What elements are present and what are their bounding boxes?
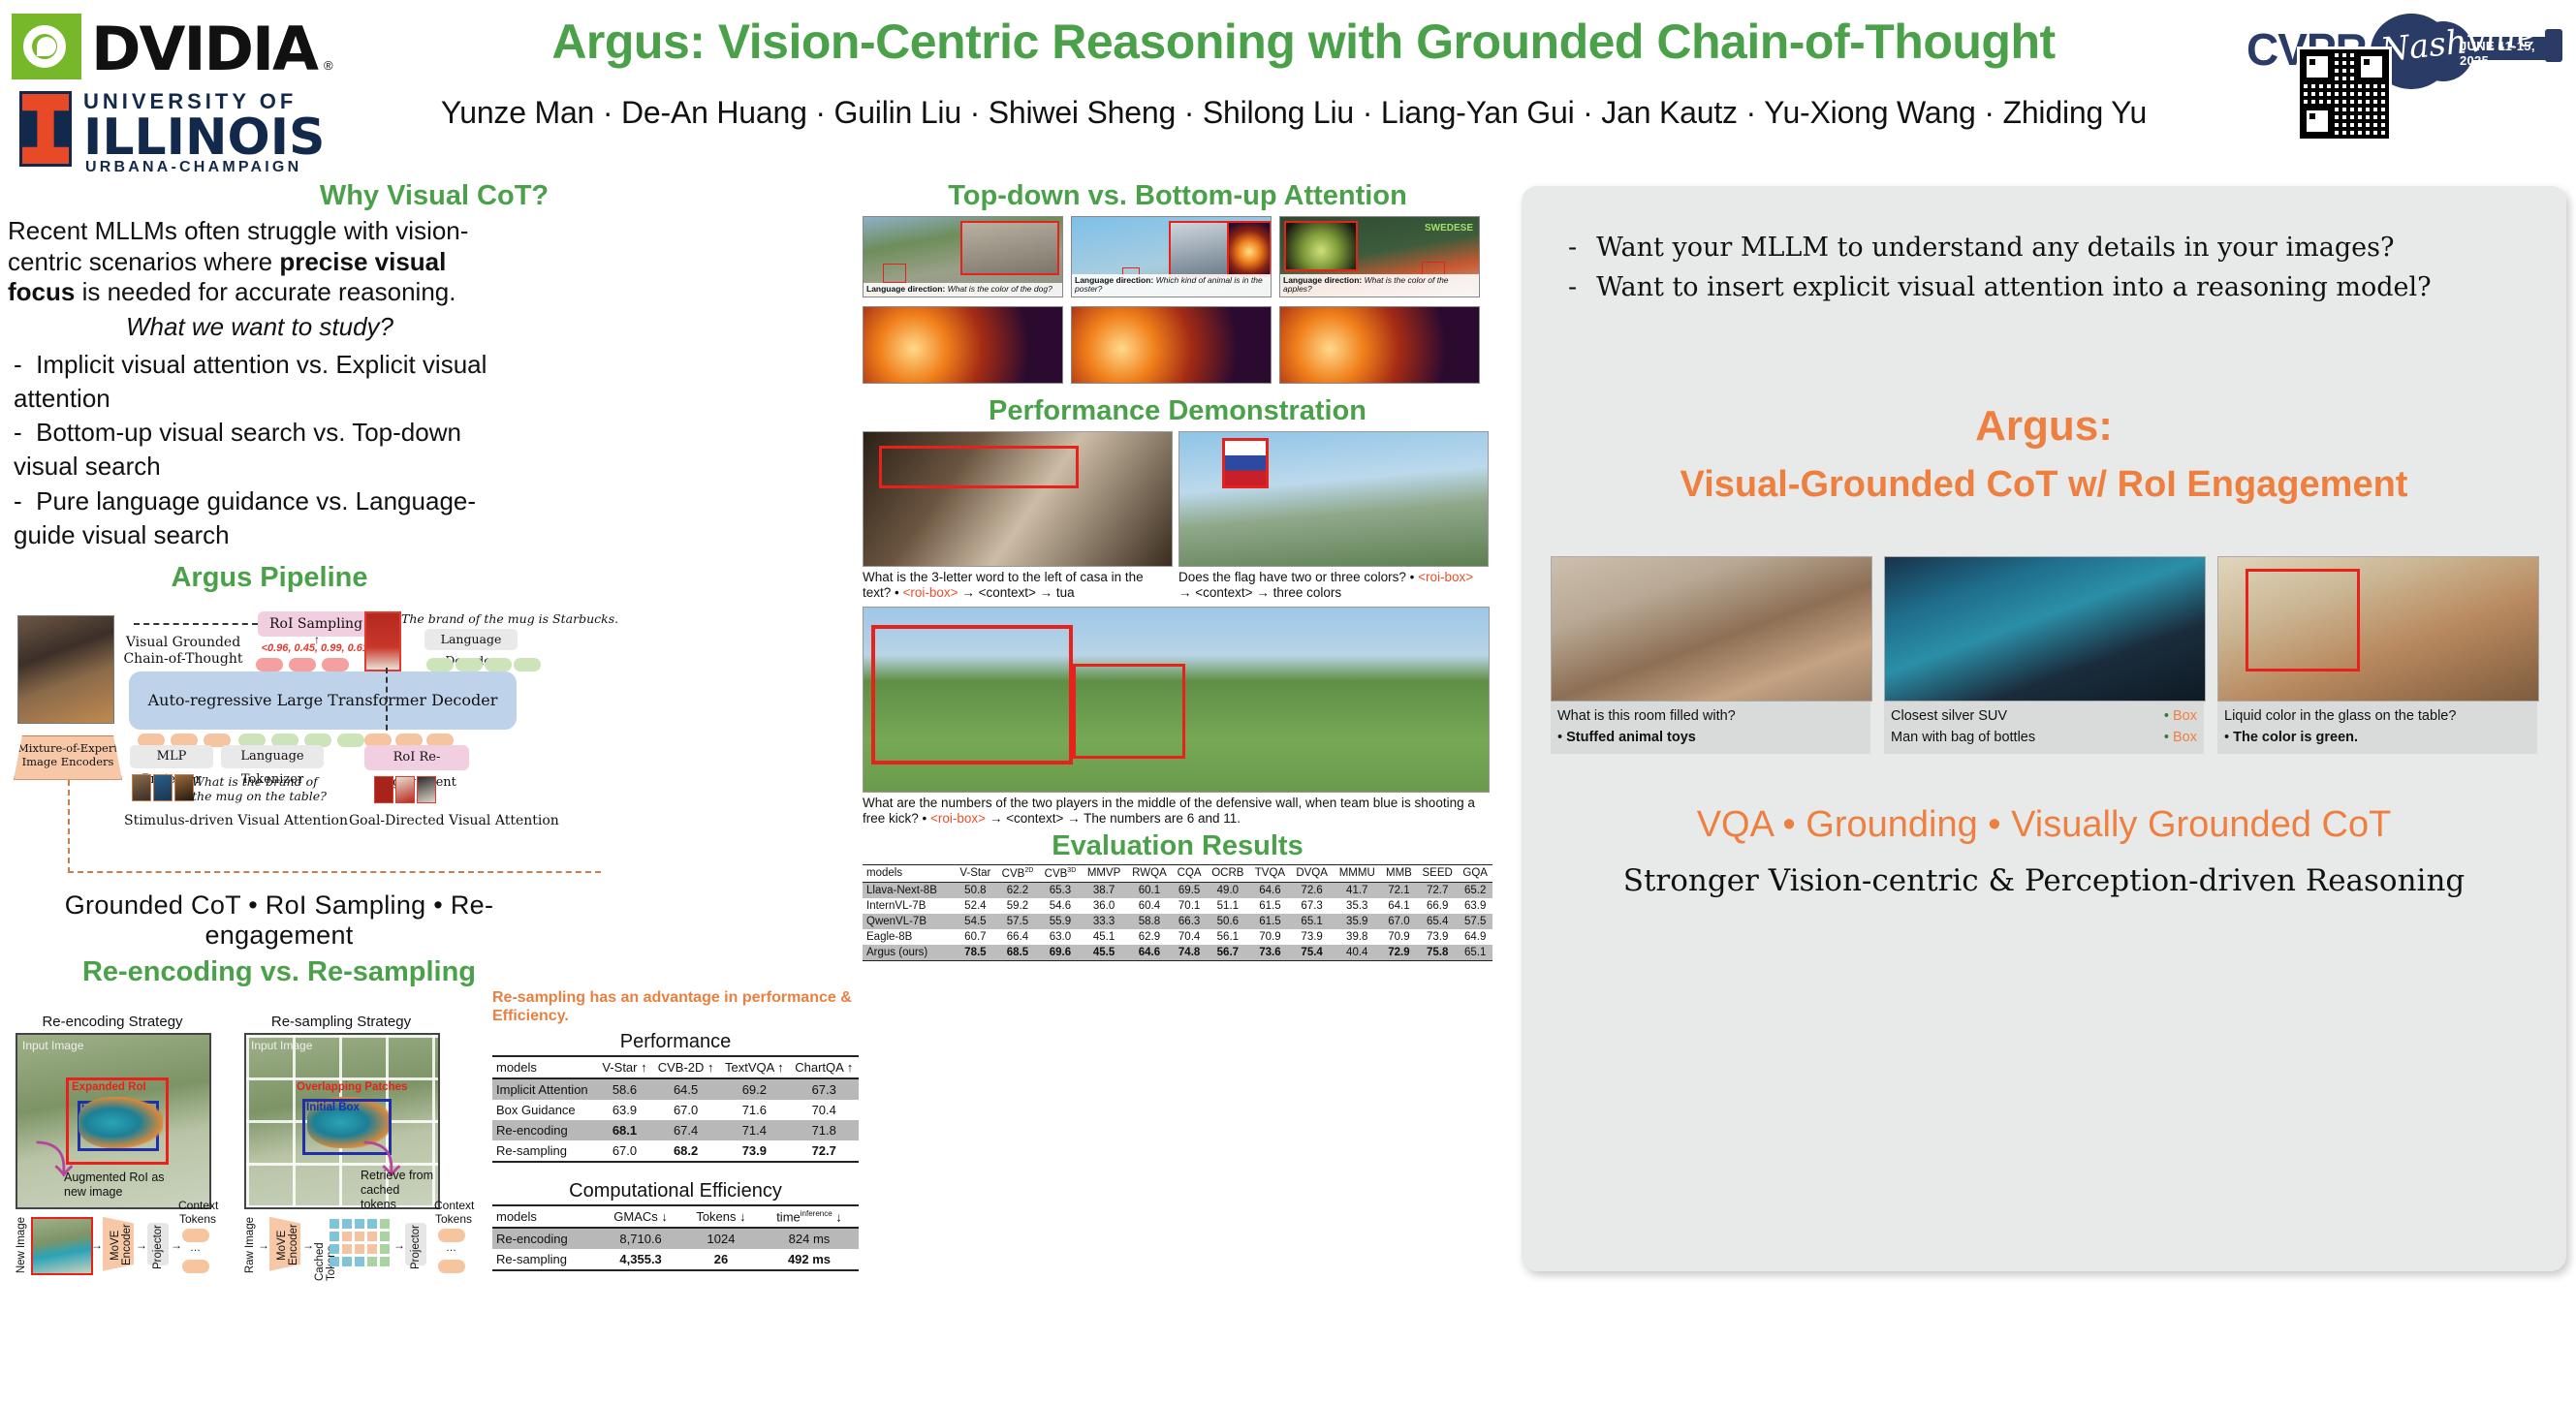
ellipsis-right: … xyxy=(446,1242,456,1254)
transformer-decoder-box: Auto-regressive Large Transformer Decode… xyxy=(129,671,517,730)
th-eff-models: models xyxy=(492,1205,599,1228)
language-tokenizer-box: Language Tokenizer xyxy=(221,745,324,768)
nvidia-registered-icon: ® xyxy=(324,58,333,73)
projector-right: Projector xyxy=(405,1223,426,1265)
illinois-logo: UNIVERSITY OF ILLINOIS URBANA-CHAMPAIGN xyxy=(12,89,341,171)
argus-pipeline-diagram: Mixture-of-Expert Image Encoders Visual … xyxy=(8,598,861,889)
performance-demo-item-1: Does the flag have two or three colors? … xyxy=(1178,431,1487,601)
demo-caption-street: Closest silver SUV • Box Man with bag of… xyxy=(1884,702,2204,754)
right-question-list: - Want your MLLM to understand any detai… xyxy=(1568,229,2566,307)
cap-line-a0: • Stuffed animal toys xyxy=(1557,728,1864,749)
efficiency-table: models GMACs ↓ Tokens ↓ timeinference ↓ … xyxy=(492,1204,859,1271)
move-encoder-left: MoVE Encoder xyxy=(103,1217,134,1271)
efficiency-table-caption: Computational Efficiency xyxy=(492,1180,859,1202)
th-ev-gqa: GQA xyxy=(1458,864,1492,882)
cached-token-grid xyxy=(330,1219,390,1266)
resampling-note: Re-sampling has an advantage in performa… xyxy=(492,988,859,1025)
resampling-strategy-heading: Re-sampling Strategy xyxy=(244,1014,438,1030)
demo-image-soccer xyxy=(863,607,1490,793)
middle-column: Top-down vs. Bottom-up Attention Languag… xyxy=(863,180,1492,1279)
argus-headline-1: Argus: xyxy=(1522,402,2566,451)
th-ev-mmvp: MMVP xyxy=(1082,864,1126,882)
arrow-icon-5: → xyxy=(302,1238,314,1252)
input-image-label-right: Input Image xyxy=(251,1039,312,1052)
th-ev-tvqa: TVQA xyxy=(1249,864,1290,882)
pipeline-roi-thumbnails xyxy=(374,776,436,803)
table-row: Re-sampling 67.0 68.2 73.9 72.7 xyxy=(492,1140,859,1162)
demo-image-flag xyxy=(1178,431,1489,567)
argus-headline-2: Visual-Grounded CoT w/ RoI Engagement xyxy=(1522,464,2566,506)
pipeline-mug-crop xyxy=(364,611,401,671)
table-row: QwenVL-7B54.557.5 55.933.358.8 66.350.66… xyxy=(863,914,1492,929)
pipeline-dash-top xyxy=(134,623,258,625)
nvidia-eye-icon xyxy=(12,14,81,79)
demo-caption-room: What is this room filled with? • Stuffed… xyxy=(1551,702,1870,754)
poster-root: DVIDIA ® UNIVERSITY OF ILLINOIS URBANA-C… xyxy=(0,0,2576,1279)
expanded-roi-label: Expanded RoI xyxy=(72,1081,146,1093)
arrow-icon-1: → xyxy=(91,1238,103,1252)
context-tokens-right: Context Tokens xyxy=(434,1200,473,1227)
demo-caption-glass: Liquid color in the glass on the table? … xyxy=(2217,702,2537,754)
th-ev-cqa: CQA xyxy=(1173,864,1207,882)
th-cvb2d: CVB-2D ↑ xyxy=(652,1056,719,1078)
th-ev-cvb3d: CVB3D xyxy=(1039,864,1082,882)
why-study-question: What we want to study? xyxy=(8,312,512,342)
table-row: Re-encoding 8,710.6 1024 824 ms xyxy=(492,1228,859,1249)
projector-left: Projector xyxy=(147,1223,169,1265)
heatmap-2 xyxy=(1279,306,1480,384)
nvidia-wordmark: DVIDIA xyxy=(91,14,317,84)
author-list: Yunze Man · De-An Huang · Guilin Liu · S… xyxy=(368,95,2219,131)
why-para-b: is needed for accurate reasoning. xyxy=(75,277,456,306)
demo-caption-wide: What are the numbers of the two players … xyxy=(863,796,1492,827)
pipeline-input-photo xyxy=(17,615,114,724)
reencoding-crop-thumb xyxy=(31,1217,93,1275)
th-ev-dvqa: DVQA xyxy=(1291,864,1334,882)
resampling-input-image: Input Image Overlapping Patches Initial … xyxy=(244,1033,440,1209)
section-title-topdown-bottomup: Top-down vs. Bottom-up Attention xyxy=(863,180,1492,212)
pipeline-user-question: What is the brand of the mug on the tabl… xyxy=(192,774,337,804)
attention-card-2: SWEDESE Language direction: What is the … xyxy=(1279,216,1480,297)
move-encoder-right: MoVE Encoder xyxy=(269,1217,300,1271)
qr-code[interactable] xyxy=(2297,47,2392,141)
table-row: Re-encoding 68.1 67.4 71.4 71.8 xyxy=(492,1120,859,1140)
section-title-evaluation-results: Evaluation Results xyxy=(863,830,1492,862)
performance-table: models V-Star ↑ CVB-2D ↑ TextVQA ↑ Chart… xyxy=(492,1055,859,1163)
box-dot-icon-1: • xyxy=(2164,708,2169,724)
attention-caption-1: Language direction: Which kind of animal… xyxy=(1072,274,1271,297)
new-image-label: New Image xyxy=(16,1217,27,1273)
retrieve-note: Retrieve from cached tokens xyxy=(361,1169,436,1212)
why-bullet-2: - Pure language guidance vs. Language-gu… xyxy=(8,484,531,552)
mlp-projector-box: MLP Projector xyxy=(130,745,213,768)
demo-photo-glass xyxy=(2217,556,2539,702)
table-header-row: models V-Star CVB2D CVB3D MMVP RWQA CQA … xyxy=(863,864,1492,882)
demo-caption-0: What is the 3-letter word to the left of… xyxy=(863,570,1171,601)
swedese-sign: SWEDESE xyxy=(1425,223,1473,234)
attention-caption-2: Language direction: What is the color of… xyxy=(1280,274,1479,297)
ellipsis-left: … xyxy=(190,1242,201,1254)
stronger-reasoning-line: Stronger Vision-centric & Perception-dri… xyxy=(1522,863,2566,898)
input-image-label-left: Input Image xyxy=(22,1039,83,1052)
arrow-icon-2: → xyxy=(136,1238,147,1252)
reencoding-flow: New Image → MoVE Encoder → Projector → C… xyxy=(16,1213,209,1281)
visual-grounded-cot-label: Visual Grounded Chain-of-Thought xyxy=(122,635,244,669)
section-title-performance-demonstration: Performance Demonstration xyxy=(863,395,1492,427)
th-tokens: Tokens ↓ xyxy=(682,1205,760,1228)
table-row: InternVL-7B52.459.2 54.636.060.4 70.151.… xyxy=(863,898,1492,914)
right-question-1: - Want to insert explicit visual attenti… xyxy=(1568,268,2566,308)
th-time: timeinference ↓ xyxy=(760,1205,859,1228)
section-title-argus-pipeline: Argus Pipeline xyxy=(8,562,531,594)
cvpr-logo: CVPR Nashville JUNE 11-15, 2025 xyxy=(2246,10,2566,107)
table-row: Implicit Attention 58.6 64.5 69.2 67.3 xyxy=(492,1078,859,1100)
goal-directed-label: Goal-Directed Visual Attention xyxy=(349,813,559,828)
augmented-roi-note: Augmented RoI as new image xyxy=(64,1171,171,1200)
th-ev-mmb: MMB xyxy=(1381,864,1417,882)
demo-caption-1: Does the flag have two or three colors? … xyxy=(1178,570,1487,601)
reencoding-resampling-figure: Re-encoding Strategy Input Image Expande… xyxy=(8,988,861,1405)
th-ev-rwqa: RWQA xyxy=(1126,864,1173,882)
attention-card-1: Language direction: Which kind of animal… xyxy=(1071,216,1272,297)
roi-reengagement-box: RoI Re-engagement xyxy=(364,745,469,770)
vqa-tagline: VQA • Grounding • Visually Grounded CoT xyxy=(1522,804,2566,846)
section-title-why-visual-cot: Why Visual CoT? xyxy=(8,180,861,212)
dash-marker-1: - xyxy=(1568,268,1577,308)
stimulus-driven-label: Stimulus-driven Visual Attention xyxy=(124,813,348,828)
language-decoder-box: Language Decoder xyxy=(424,629,518,650)
th-ev-models: models xyxy=(863,864,955,882)
nvidia-logo: DVIDIA ® xyxy=(12,8,341,87)
cap-line-a2: • The color is green. xyxy=(2224,728,2530,749)
initial-box-left xyxy=(78,1101,159,1151)
cap-line-q1a: Closest silver SUV • Box xyxy=(1891,706,2197,728)
why-paragraph: Recent MLLMs often struggle with vision-… xyxy=(8,216,512,308)
th-chartqa: ChartQA ↑ xyxy=(789,1056,859,1078)
context-tokens-left: Context Tokens xyxy=(178,1200,217,1227)
up-arrow-icon: ↑ xyxy=(314,633,320,646)
demo-image-text xyxy=(863,431,1173,567)
table-row: Re-sampling 4,355.3 26 492 ms xyxy=(492,1249,859,1270)
overlapping-patches-label: Overlapping Patches xyxy=(297,1081,407,1093)
attention-examples-row: Language direction: What is the color of… xyxy=(863,216,1492,297)
attention-card-0: Language direction: What is the color of… xyxy=(863,216,1063,297)
th-ev-mmmu: MMMU xyxy=(1334,864,1381,882)
right-demo-row: What is this room filled with? • Stuffed… xyxy=(1522,556,2566,754)
poster-title: Argus: Vision-Centric Reasoning with Gro… xyxy=(388,14,2219,70)
pipeline-brand-answer: The brand of the mug is Starbucks. xyxy=(401,611,618,626)
why-bullet-list: - Implicit visual attention vs. Explicit… xyxy=(8,348,531,552)
illinois-block-i-icon xyxy=(19,91,72,167)
reencoding-input-image: Input Image Expanded RoI Initial Box ⤵ A… xyxy=(16,1033,211,1209)
arrow-icon-6: → xyxy=(393,1238,405,1252)
table-row: Llava-Next-8B50.862.2 65.338.760.1 69.54… xyxy=(863,882,1492,898)
th-ev-cvb2d: CVB2D xyxy=(996,864,1039,882)
illinois-wordmark: ILLINOIS xyxy=(83,109,326,167)
pipeline-summary-caption: Grounded CoT • RoI Sampling • Re-engagem… xyxy=(8,890,550,951)
reencoding-strategy-heading: Re-encoding Strategy xyxy=(16,1014,209,1030)
arrow-icon-4: → xyxy=(258,1238,269,1252)
performance-demo-row: What is the 3-letter word to the left of… xyxy=(863,431,1492,601)
table-row: Argus (ours) 78.568.5 69.645.5 64.674.8 … xyxy=(863,945,1492,961)
cap-line-q1b: Man with bag of bottles • Box xyxy=(1891,728,2197,749)
pipeline-image-thumbnails xyxy=(132,774,194,801)
demo-photo-room xyxy=(1551,556,1872,702)
guitar-icon: Nashville JUNE 11-15, 2025 xyxy=(2371,14,2564,89)
th-models: models xyxy=(492,1056,597,1078)
right-question-0: - Want your MLLM to understand any detai… xyxy=(1568,229,2566,268)
cap-line-q2: Liquid color in the glass on the table? xyxy=(2224,706,2530,728)
th-ev-vstar: V-Star xyxy=(955,864,996,882)
right-demo-card-0: What is this room filled with? • Stuffed… xyxy=(1551,556,1870,754)
right-demo-card-1: Closest silver SUV • Box Man with bag of… xyxy=(1884,556,2204,754)
attention-caption-0: Language direction: What is the color of… xyxy=(864,283,1062,297)
initial-box-label-right: Initial Box xyxy=(306,1102,360,1113)
attention-heatmap-row xyxy=(863,301,1492,384)
heatmap-1 xyxy=(1071,306,1272,384)
demo-photo-street xyxy=(1884,556,2206,702)
cap-line-q0: What is this room filled with? xyxy=(1557,706,1864,728)
heatmap-0 xyxy=(863,306,1063,384)
performance-demo-item-0: What is the 3-letter word to the left of… xyxy=(863,431,1171,601)
table-row: Box Guidance 63.9 67.0 71.6 70.4 xyxy=(492,1100,859,1120)
resampling-flow: Raw Image → MoVE Encoder → Cached Tokens… xyxy=(244,1213,438,1281)
th-ev-ocrb: OCRB xyxy=(1206,864,1249,882)
why-bullet-1: - Bottom-up visual search vs. Top-down v… xyxy=(8,416,531,484)
table-row: Eagle-8B60.766.4 63.045.162.9 70.456.170… xyxy=(863,929,1492,945)
th-ev-seed: SEED xyxy=(1417,864,1458,882)
dash-marker-0: - xyxy=(1568,229,1577,268)
initial-box-label-left: Initial Box xyxy=(81,1104,135,1115)
performance-table-caption: Performance xyxy=(492,1031,859,1053)
th-vstar: V-Star ↑ xyxy=(597,1056,652,1078)
poster-header: DVIDIA ® UNIVERSITY OF ILLINOIS URBANA-C… xyxy=(0,0,2576,174)
section-title-reencoding-resampling: Re-encoding vs. Re-sampling xyxy=(8,956,550,988)
box-dot-icon-2: • xyxy=(2164,730,2169,745)
th-textvqa: TextVQA ↑ xyxy=(719,1056,789,1078)
moe-encoder-box: Mixture-of-Expert Image Encoders xyxy=(14,735,122,780)
right-demo-card-2: Liquid color in the glass on the table? … xyxy=(2217,556,2537,754)
right-panel: - Want your MLLM to understand any detai… xyxy=(1522,186,2566,1271)
illinois-campus: URBANA-CHAMPAIGN xyxy=(85,159,301,176)
left-column: Why Visual CoT? Recent MLLMs often strug… xyxy=(8,180,861,1273)
evaluation-table: models V-Star CVB2D CVB3D MMVP RWQA CQA … xyxy=(863,864,1492,961)
table-header-row: models GMACs ↓ Tokens ↓ timeinference ↓ xyxy=(492,1205,859,1228)
th-gmacs: GMACs ↓ xyxy=(599,1205,682,1228)
table-header-row: models V-Star ↑ CVB-2D ↑ TextVQA ↑ Chart… xyxy=(492,1056,859,1078)
why-bullet-0: - Implicit visual attention vs. Explicit… xyxy=(8,348,531,416)
arrow-icon-3: → xyxy=(171,1238,182,1252)
cvpr-date: JUNE 11-15, 2025 xyxy=(2460,39,2564,68)
raw-image-label: Raw Image xyxy=(244,1217,256,1273)
left-tables-group: Re-sampling has an advantage in performa… xyxy=(492,988,859,1272)
